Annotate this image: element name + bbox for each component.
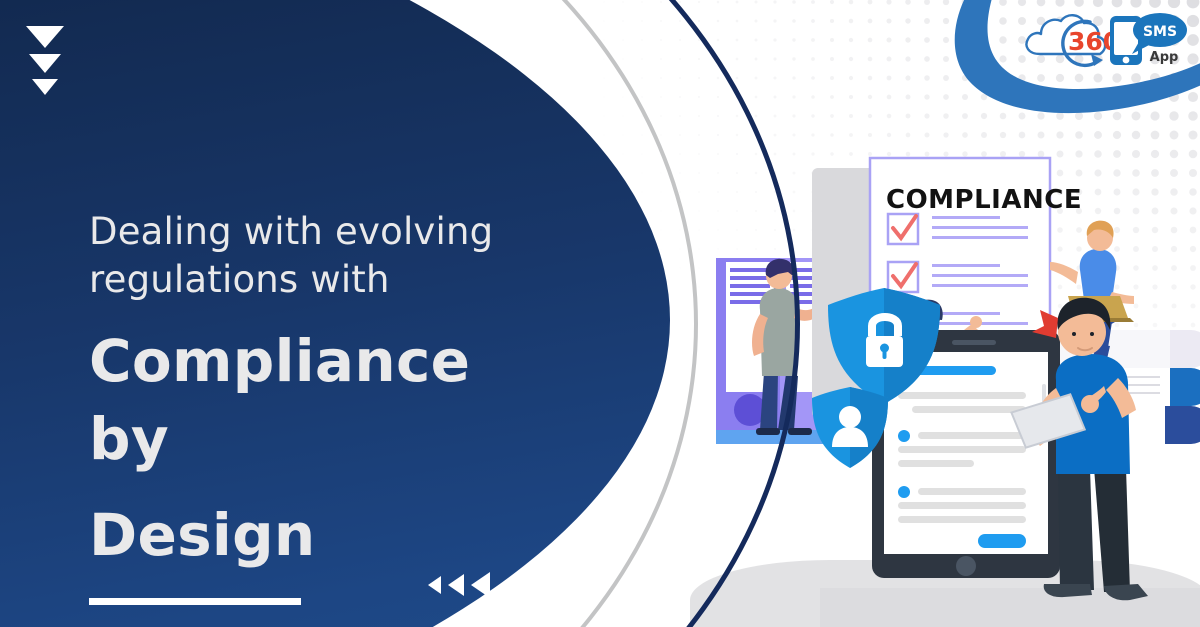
brand-logo[interactable]: 360 SMS App [1020,4,1190,76]
kicker-line-1: Dealing with evolving [89,208,559,256]
triangle-down-icon [26,26,64,48]
headline-line-2: Design [89,496,559,574]
headline-underline [89,598,301,605]
headline-block: Dealing with evolving regulations with C… [89,208,559,605]
triangle-down-icon [32,79,58,95]
screen-bullet-1 [898,430,910,442]
triangle-down-icon [29,54,61,73]
logo-sms-text: SMS [1143,24,1177,40]
logo-app-text: App [1150,50,1179,65]
down-triangles [26,26,64,101]
document-title: COMPLIANCE [886,185,1082,215]
sms-bubble-icon: SMS [1132,13,1187,54]
kicker-line-2: regulations with [89,256,559,304]
headline-line-1: Compliance by [89,322,559,478]
screen-bullet-2 [898,486,910,498]
screen-action-button [978,534,1026,548]
promo-banner: COMPLIANCE [0,0,1200,627]
